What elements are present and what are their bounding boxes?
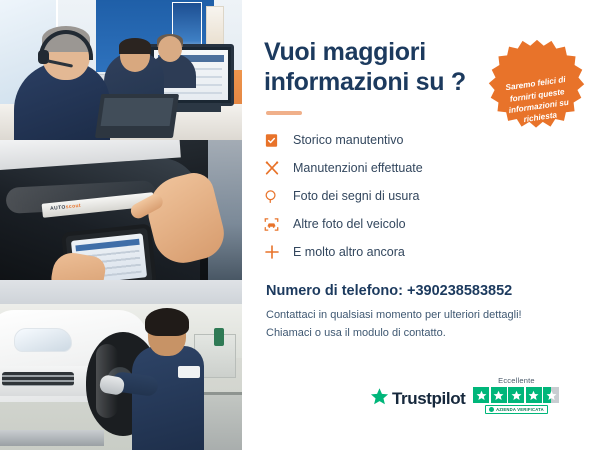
car-headlight xyxy=(14,328,72,352)
list-item-label: Storico manutentivo xyxy=(293,133,403,147)
list-item-label: E molto altro ancora xyxy=(293,245,405,259)
page-title: Vuoi maggiori informazioni su ? xyxy=(264,38,474,97)
trustpilot-widget[interactable]: Trustpilot Eccellente xyxy=(370,376,559,414)
star-filled xyxy=(508,387,524,403)
contact-line-1: Contattaci in qualsiasi momento per ulte… xyxy=(266,308,600,324)
mechanic-hair xyxy=(145,308,189,336)
star-filled xyxy=(473,387,489,403)
mechanic-body xyxy=(132,346,204,450)
list-item: Altre foto del veicolo xyxy=(264,211,600,237)
star-rating xyxy=(473,387,559,403)
trustpilot-logo: Trustpilot xyxy=(370,387,465,411)
trustpilot-rating: Eccellente xyxy=(473,376,559,414)
agent-laptop xyxy=(95,94,179,138)
verified-check-icon xyxy=(489,407,494,412)
mechanic-lift-photo xyxy=(0,280,242,450)
trustpilot-star-icon xyxy=(370,387,389,411)
contact-line-2: Chiamaci o usa il modulo di contatto. xyxy=(266,326,600,342)
title-divider xyxy=(266,111,302,115)
call-center-photo xyxy=(0,0,242,140)
star-half xyxy=(543,387,559,403)
photo-column: AUTOscout xyxy=(0,0,242,450)
green-bottle xyxy=(214,328,224,346)
worker-2-hair xyxy=(119,38,151,54)
worker-3-head xyxy=(158,36,182,62)
callout-badge: Saremo felici di fornirti queste informa… xyxy=(484,38,590,150)
upper-photo-strip xyxy=(0,280,242,304)
list-item-label: Altre foto del veicolo xyxy=(293,217,406,231)
plus-icon xyxy=(264,244,288,260)
list-item-label: Manutenzioni effettuate xyxy=(293,161,423,175)
promo-banner: AUTOscout xyxy=(0,0,600,450)
magnifier-icon xyxy=(264,189,288,204)
clipboard-check-icon xyxy=(264,133,288,148)
content-panel: Vuoi maggiori informazioni su ? Storico … xyxy=(242,0,600,450)
rating-label: Eccellente xyxy=(498,376,535,385)
uniform-logo-patch xyxy=(178,366,200,378)
sticker-brand-text: AUTOscout xyxy=(50,203,81,212)
car-grille xyxy=(2,372,74,386)
badge-text: Saremo felici di fornirti queste informa… xyxy=(496,73,580,129)
list-item: E molto altro ancora xyxy=(264,239,600,265)
vehicle-lift xyxy=(0,430,104,446)
badge-content: Saremo felici di fornirti queste informa… xyxy=(477,31,598,157)
car-inspection-photo: AUTOscout xyxy=(0,140,242,280)
star-filled xyxy=(491,387,507,403)
phone-number: Numero di telefono: +390238583852 xyxy=(266,283,600,299)
trustpilot-brand: Trustpilot xyxy=(392,389,465,409)
list-item: Foto dei segni di usura xyxy=(264,183,600,209)
car-frame-icon xyxy=(264,217,288,232)
tools-cross-icon xyxy=(264,160,288,176)
star-filled xyxy=(526,387,542,403)
list-item: Manutenzioni effettuate xyxy=(264,155,600,181)
verified-label: AZIENDA VERIFICATA xyxy=(496,407,544,412)
verified-business-badge: AZIENDA VERIFICATA xyxy=(485,405,548,414)
list-item-label: Foto dei segni di usura xyxy=(293,189,419,203)
